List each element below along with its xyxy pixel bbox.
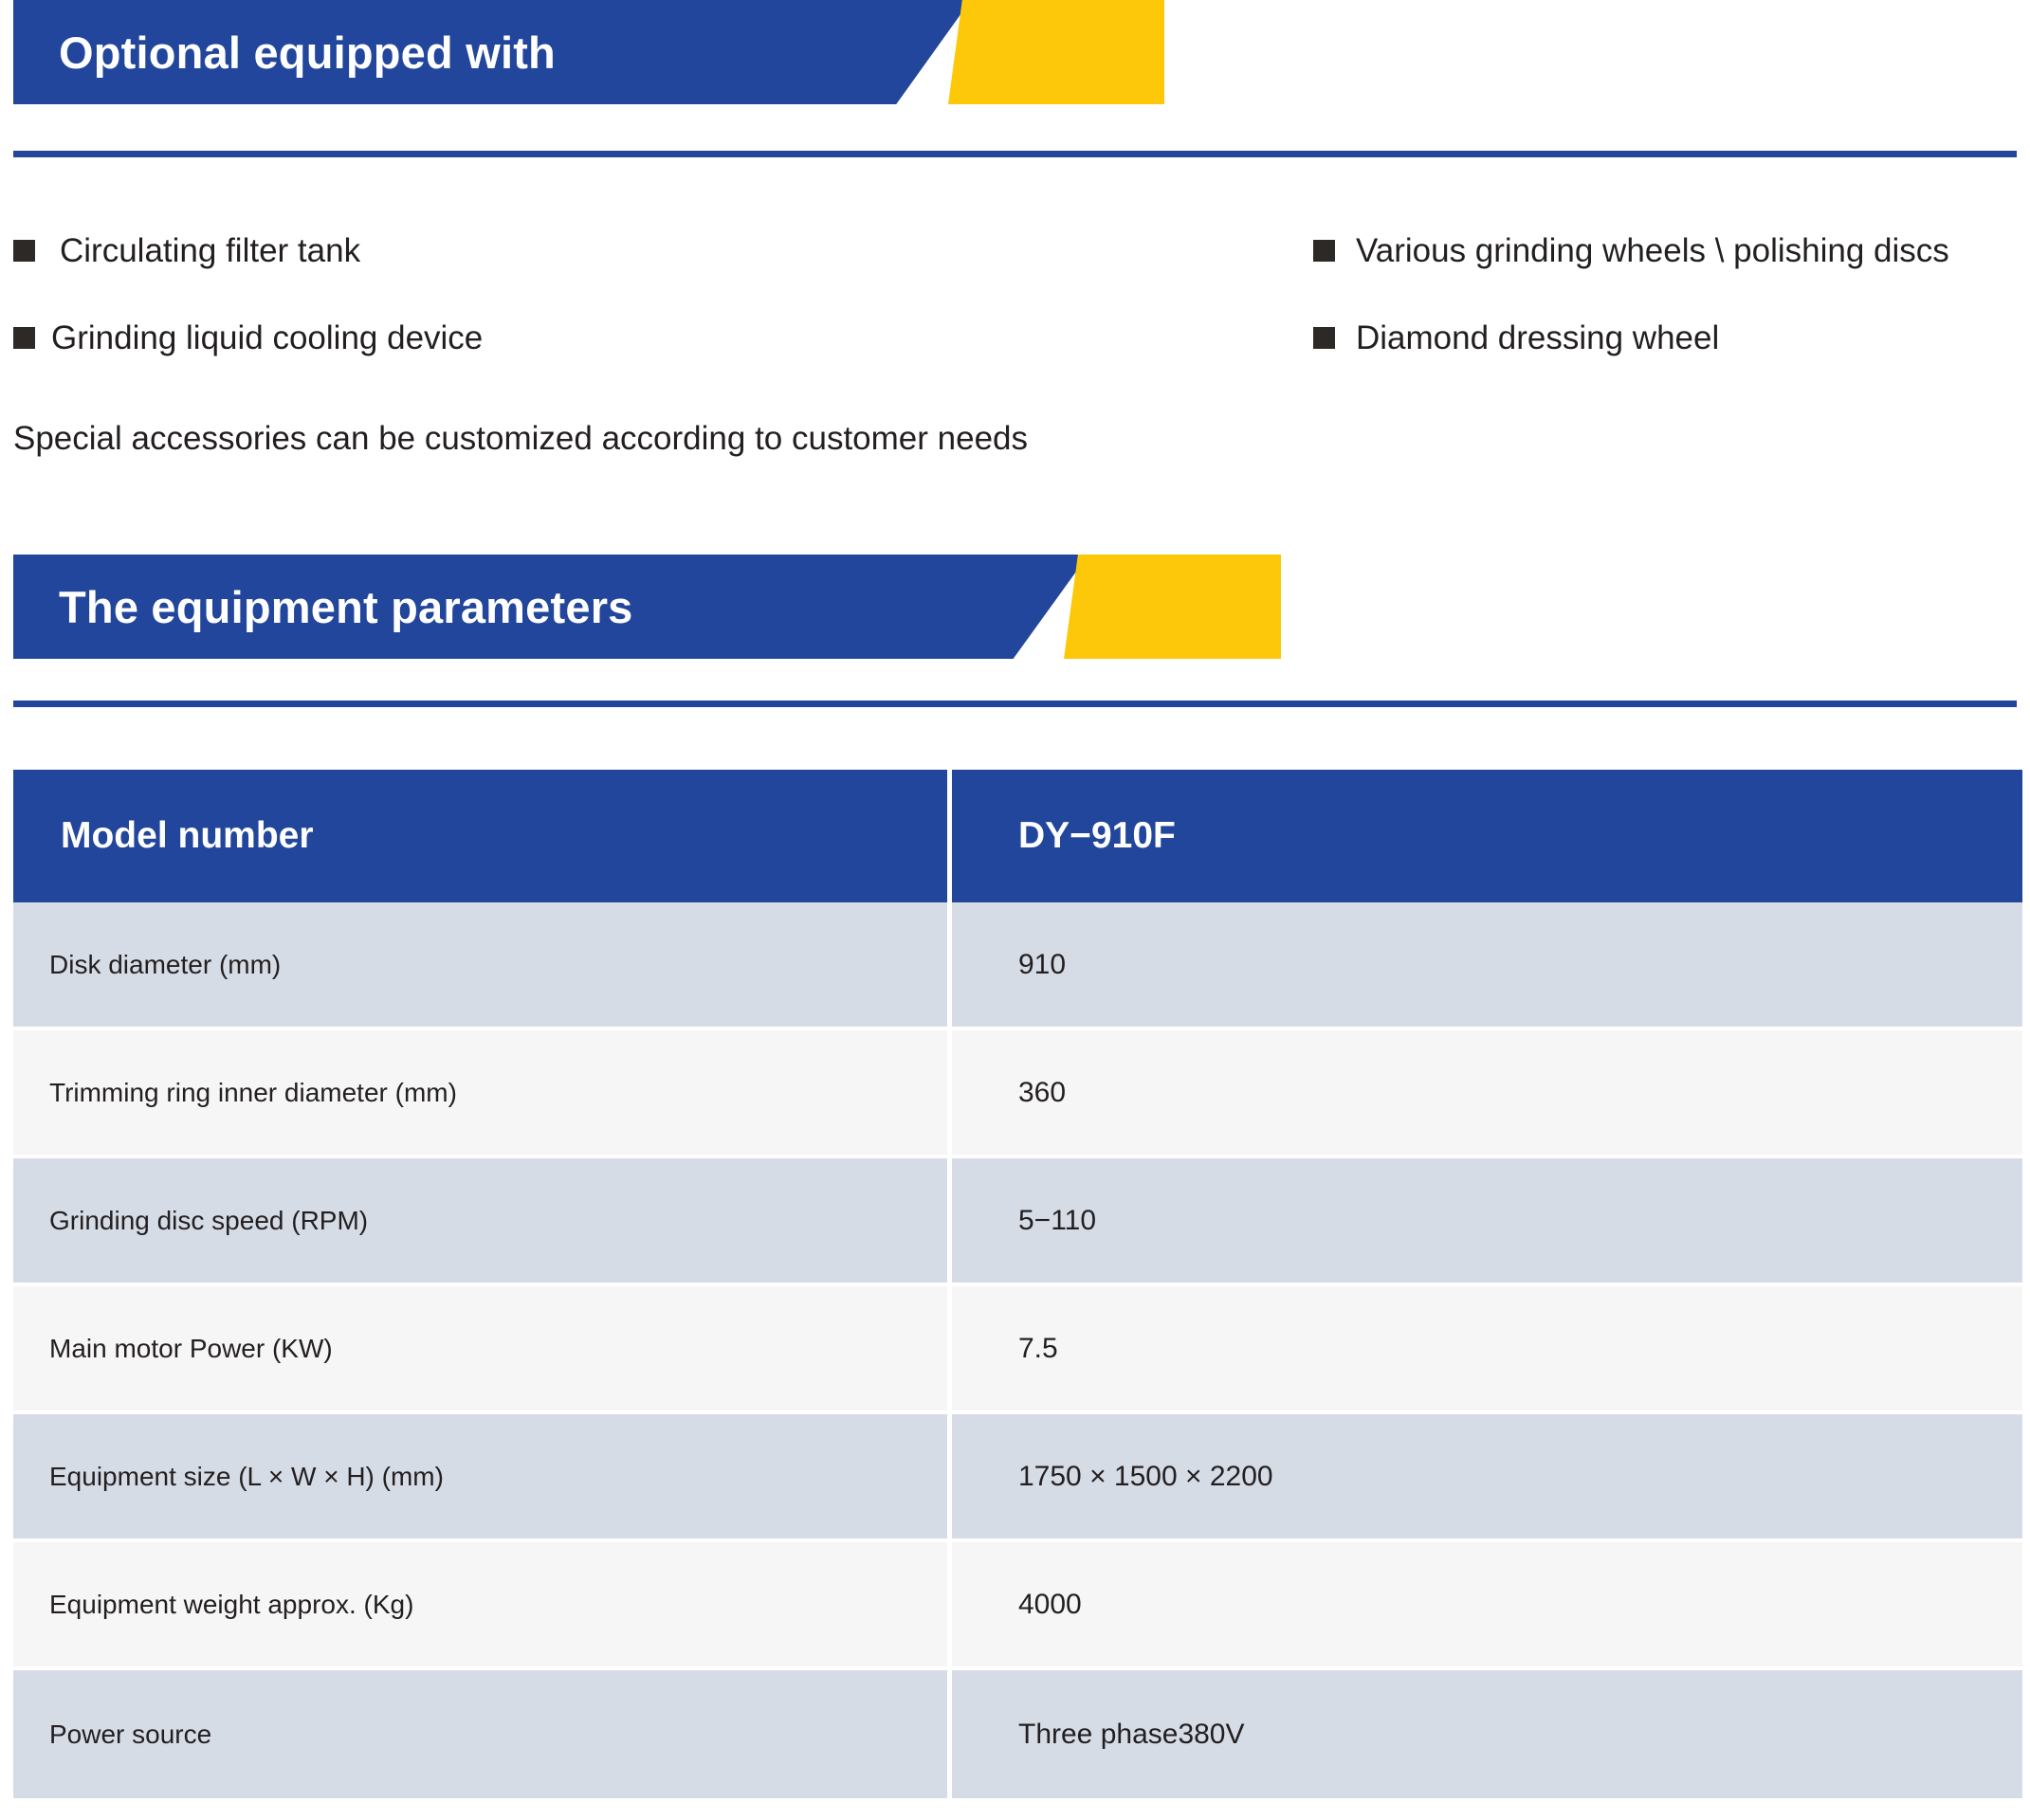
table-row: Main motor Power (KW) 7.5 bbox=[13, 1286, 2022, 1414]
square-bullet-icon bbox=[1313, 240, 1335, 262]
banner-blue-shape: Optional equipped with bbox=[13, 0, 971, 104]
equipment-parameters-table: Model number DY−910F Disk diameter (mm) … bbox=[13, 770, 2022, 1798]
equipment-parameters-title: The equipment parameters bbox=[13, 585, 633, 629]
spec-label: Power source bbox=[13, 1670, 952, 1798]
table-row: Trimming ring inner diameter (mm) 360 bbox=[13, 1030, 2022, 1158]
spec-label: Equipment weight approx. (Kg) bbox=[13, 1542, 952, 1670]
optional-features-lists: Circulating filter tank Grinding liquid … bbox=[0, 232, 2030, 450]
banner-underline-rule bbox=[13, 701, 2017, 707]
spec-value: 910 bbox=[952, 902, 2022, 1030]
list-item: Various grinding wheels \ polishing disc… bbox=[1313, 232, 2030, 319]
column-header-model-number: Model number bbox=[13, 770, 952, 902]
table-row: Equipment size (L × W × H) (mm) 1750 × 1… bbox=[13, 1414, 2022, 1542]
square-bullet-icon bbox=[13, 327, 35, 349]
list-item: Diamond dressing wheel bbox=[1313, 319, 2030, 407]
spec-value: 7.5 bbox=[952, 1286, 2022, 1414]
banner-row: The equipment parameters bbox=[0, 555, 2030, 659]
spec-label: Main motor Power (KW) bbox=[13, 1286, 952, 1414]
table-body: Disk diameter (mm) 910 Trimming ring inn… bbox=[13, 902, 2022, 1798]
features-column-left: Circulating filter tank Grinding liquid … bbox=[13, 232, 961, 407]
spec-label: Disk diameter (mm) bbox=[13, 902, 952, 1030]
banner-blue-shape: The equipment parameters bbox=[13, 555, 1088, 659]
list-item: Grinding liquid cooling device bbox=[13, 319, 961, 407]
feature-label: Grinding liquid cooling device bbox=[51, 319, 483, 357]
spec-value: 1750 × 1500 × 2200 bbox=[952, 1414, 2022, 1542]
table-header-row: Model number DY−910F bbox=[13, 770, 2022, 902]
feature-label: Diamond dressing wheel bbox=[1356, 319, 1719, 357]
list-item: Circulating filter tank bbox=[13, 232, 961, 319]
spec-label: Grinding disc speed (RPM) bbox=[13, 1158, 952, 1286]
spec-value: 360 bbox=[952, 1030, 2022, 1158]
table-row: Power source Three phase380V bbox=[13, 1670, 2022, 1798]
spec-label: Equipment size (L × W × H) (mm) bbox=[13, 1414, 952, 1542]
spec-value: Three phase380V bbox=[952, 1670, 2022, 1798]
features-column-right: Various grinding wheels \ polishing disc… bbox=[1313, 232, 2030, 407]
banner-row: Optional equipped with bbox=[0, 0, 2030, 104]
column-header-model-value: DY−910F bbox=[952, 770, 2022, 902]
square-bullet-icon bbox=[1313, 327, 1335, 349]
square-bullet-icon bbox=[13, 240, 35, 262]
banner-yellow-accent-shape bbox=[1064, 555, 1281, 659]
feature-label: Circulating filter tank bbox=[60, 232, 360, 270]
spec-label: Trimming ring inner diameter (mm) bbox=[13, 1030, 952, 1158]
optional-equipped-title: Optional equipped with bbox=[13, 30, 556, 75]
feature-label: Various grinding wheels \ polishing disc… bbox=[1356, 232, 1949, 270]
spec-value: 4000 bbox=[952, 1542, 2022, 1670]
custom-accessories-note: Special accessories can be customized ac… bbox=[13, 420, 1028, 458]
table-row: Equipment weight approx. (Kg) 4000 bbox=[13, 1542, 2022, 1670]
equipment-parameters-section-banner: The equipment parameters bbox=[0, 555, 2030, 659]
table-header: Model number DY−910F bbox=[13, 770, 2022, 902]
banner-underline-rule bbox=[13, 151, 2017, 157]
table-row: Disk diameter (mm) 910 bbox=[13, 902, 2022, 1030]
banner-yellow-accent-shape bbox=[948, 0, 1164, 104]
table-row: Grinding disc speed (RPM) 5−110 bbox=[13, 1158, 2022, 1286]
optional-equipped-section-banner: Optional equipped with bbox=[0, 0, 2030, 104]
spec-value: 5−110 bbox=[952, 1158, 2022, 1286]
